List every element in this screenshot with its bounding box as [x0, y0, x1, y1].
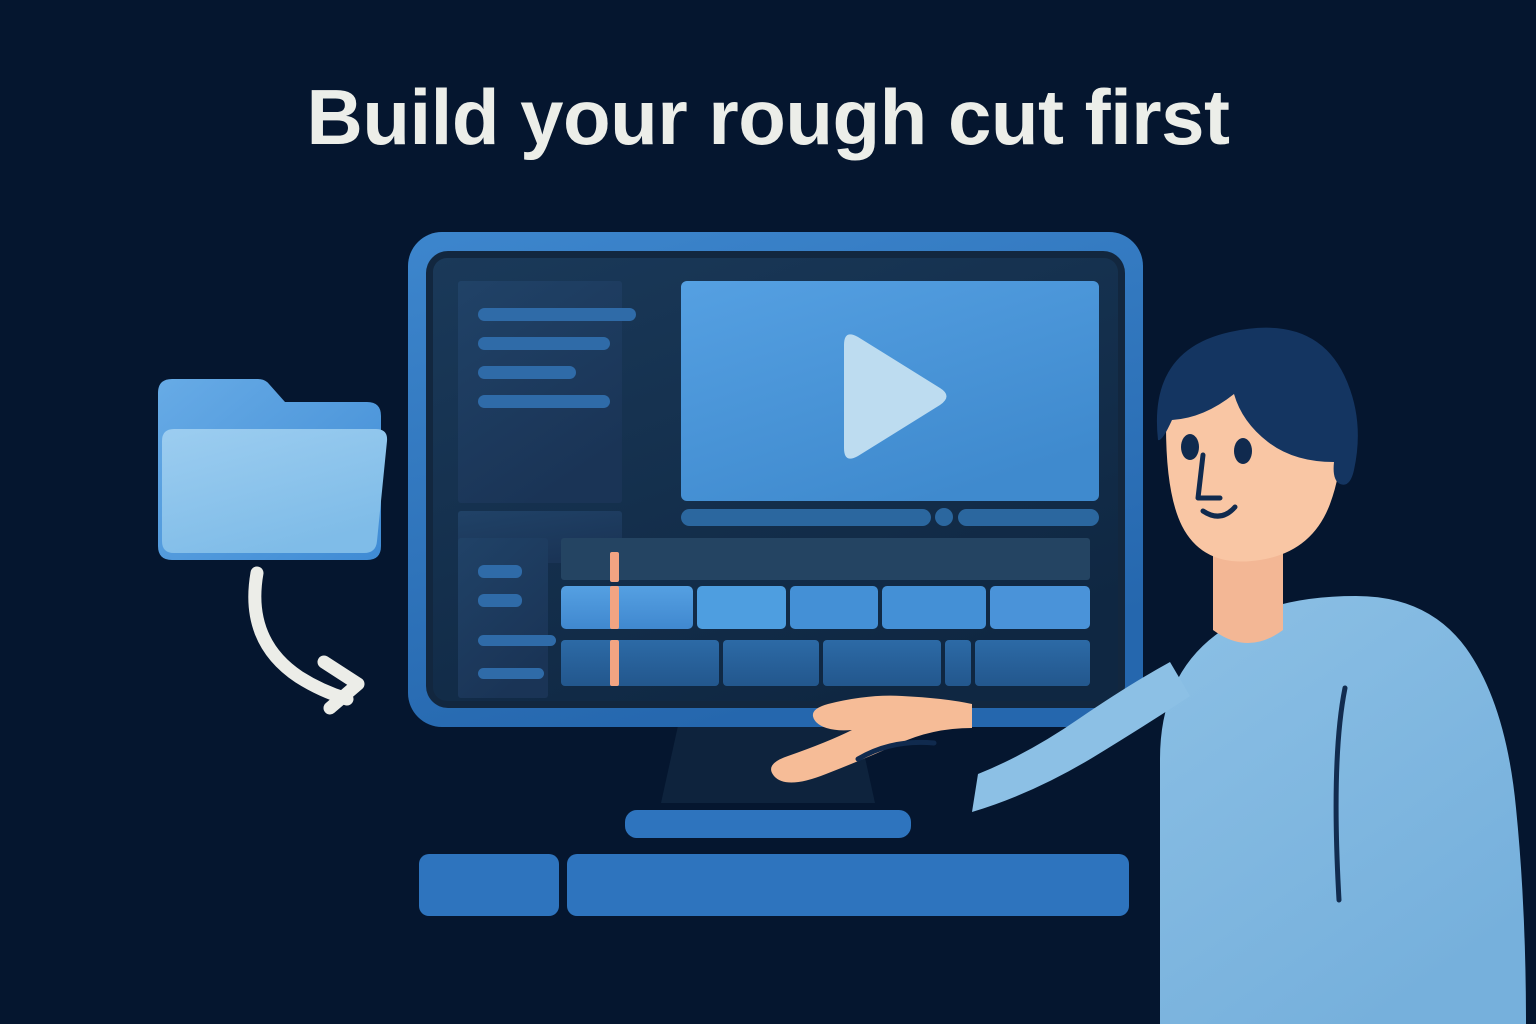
track-header-bar: [478, 594, 522, 607]
folder-front-panel: [162, 429, 387, 553]
video-clip[interactable]: [882, 586, 986, 629]
scrubber-track: [958, 509, 1099, 526]
video-clip[interactable]: [561, 586, 693, 629]
media-bin-panel[interactable]: [458, 281, 636, 503]
monitor: [408, 232, 1143, 727]
keyboard[interactable]: [567, 854, 1129, 916]
person-eye-right: [1234, 438, 1252, 464]
curved-import-arrow-icon: [255, 573, 358, 708]
audio-clip[interactable]: [975, 640, 1090, 686]
illustration-canvas: Build your rough cut first: [0, 0, 1536, 1024]
playback-scrubber[interactable]: [681, 508, 1099, 526]
audio-clip[interactable]: [723, 640, 819, 686]
scrubber-handle[interactable]: [935, 508, 953, 526]
timeline-track-headers[interactable]: [458, 538, 556, 698]
audio-clip[interactable]: [945, 640, 971, 686]
video-clip[interactable]: [790, 586, 878, 629]
video-clip[interactable]: [990, 586, 1090, 629]
track-header-bar: [478, 635, 556, 646]
person-shirt: [1160, 596, 1526, 1024]
media-bin-bar: [478, 337, 610, 350]
video-track[interactable]: [561, 586, 1090, 629]
audio-clip[interactable]: [823, 640, 941, 686]
timeline-ruler[interactable]: [561, 538, 1090, 580]
audio-track[interactable]: [561, 640, 1090, 686]
scrubber-filled: [681, 509, 931, 526]
timeline-playhead[interactable]: [610, 552, 619, 686]
media-bin-bar: [478, 366, 576, 379]
track-header-bar: [478, 565, 522, 578]
media-bin-bar: [478, 395, 610, 408]
mouse-pad[interactable]: [419, 854, 559, 916]
scene-illustration: [0, 0, 1536, 1024]
media-folder-icon[interactable]: [158, 379, 387, 560]
audio-clip[interactable]: [561, 640, 719, 686]
media-bin-bar: [478, 308, 636, 321]
track-header-bar: [478, 668, 544, 679]
video-clip[interactable]: [697, 586, 786, 629]
person-eye-left: [1181, 434, 1199, 460]
